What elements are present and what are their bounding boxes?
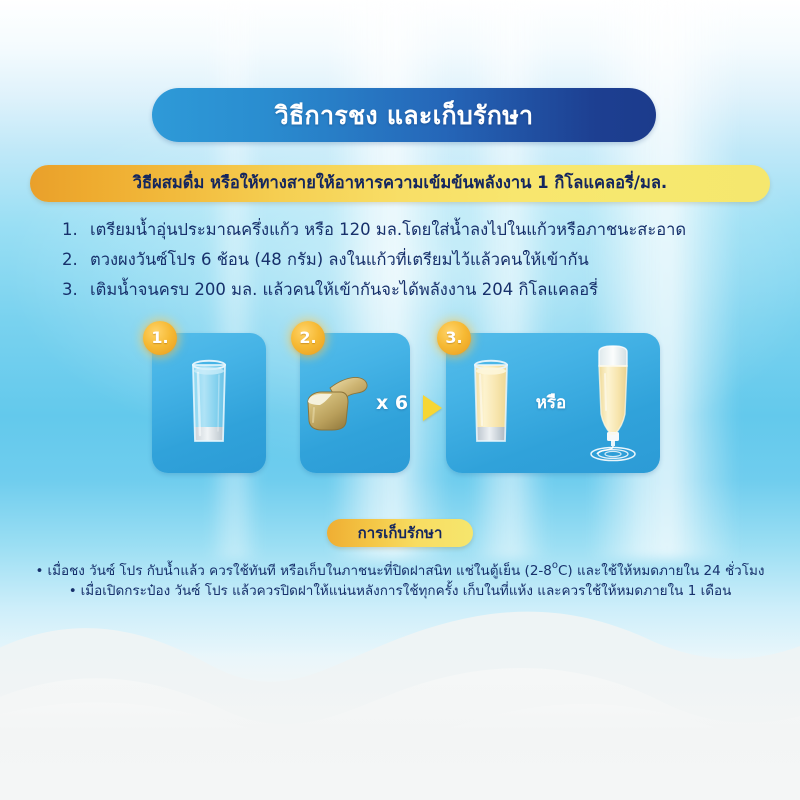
storage-section-pill: การเก็บรักษา bbox=[327, 519, 473, 547]
step-text: เตรียมน้ำอุ่นประมาณครึ่งแก้ว หรือ 120 มล… bbox=[90, 219, 686, 240]
header-banner: วิธีการชง และเก็บรักษา bbox=[152, 88, 656, 142]
bullet-icon: • bbox=[69, 583, 77, 599]
step-text: ตวงผงวันซ์โปร 6 ช้อน (48 กรัม) ลงในแก้วท… bbox=[90, 249, 589, 270]
step-item: 3. เติมน้ำจนครบ 200 มล. แล้วคนให้เข้ากัน… bbox=[62, 279, 762, 300]
storage-note-text: เมื่อเปิดกระป๋อง วันซ์ โปร แล้วควรปิดฝาใ… bbox=[81, 583, 732, 599]
or-label: หรือ bbox=[536, 395, 567, 412]
scoop-icon bbox=[302, 372, 372, 434]
step-item: 1. เตรียมน้ำอุ่นประมาณครึ่งแก้ว หรือ 120… bbox=[62, 219, 762, 240]
arrow-icon bbox=[423, 395, 442, 421]
step-item: 2. ตวงผงวันซ์โปร 6 ช้อน (48 กรัม) ลงในแก… bbox=[62, 249, 762, 270]
bottom-fade bbox=[0, 650, 800, 800]
storage-note-text-cont: C) และใช้ให้หมดภายใน 24 ชั่วโมง bbox=[558, 563, 764, 579]
step-text: เติมน้ำจนครบ 200 มล. แล้วคนให้เข้ากันจะไ… bbox=[90, 279, 598, 300]
feeding-bottle-icon bbox=[585, 344, 641, 462]
panel-step-1: 1. bbox=[152, 333, 266, 473]
steps-list: 1. เตรียมน้ำอุ่นประมาณครึ่งแก้ว หรือ 120… bbox=[62, 219, 762, 309]
subtitle-bar: วิธีผสมดื่ม หรือให้ทางสายให้อาหารความเข้… bbox=[30, 165, 770, 202]
storage-notes: •เมื่อชง วันซ์ โปร กับน้ำแล้ว ควรใช้ทันท… bbox=[0, 561, 800, 602]
storage-note-item: •เมื่อชง วันซ์ โปร กับน้ำแล้ว ควรใช้ทันท… bbox=[0, 561, 800, 581]
storage-note-text: เมื่อชง วันซ์ โปร กับน้ำแล้ว ควรใช้ทันที… bbox=[47, 563, 551, 579]
panel-step-3: 3. bbox=[446, 333, 660, 473]
milk-glass-icon bbox=[465, 353, 517, 453]
page-title: วิธีการชง และเก็บรักษา bbox=[275, 103, 534, 128]
water-glass-icon bbox=[183, 355, 235, 451]
storage-pill-label: การเก็บรักษา bbox=[358, 526, 443, 541]
scoop-count-label: x 6 bbox=[376, 394, 408, 413]
instruction-poster: วิธีการชง และเก็บรักษา วิธีผสมดื่ม หรือใ… bbox=[0, 0, 800, 800]
step-number: 3. bbox=[62, 279, 90, 300]
bullet-icon: • bbox=[36, 563, 44, 579]
storage-note-item: •เมื่อเปิดกระป๋อง วันซ์ โปร แล้วควรปิดฝา… bbox=[0, 581, 800, 601]
illustration-panels: 1. bbox=[152, 333, 660, 473]
step-number: 1. bbox=[62, 219, 90, 240]
panel-step-2: 2. bbox=[300, 333, 410, 473]
subtitle-text: วิธีผสมดื่ม หรือให้ทางสายให้อาหารความเข้… bbox=[133, 175, 667, 192]
step-number: 2. bbox=[62, 249, 90, 270]
